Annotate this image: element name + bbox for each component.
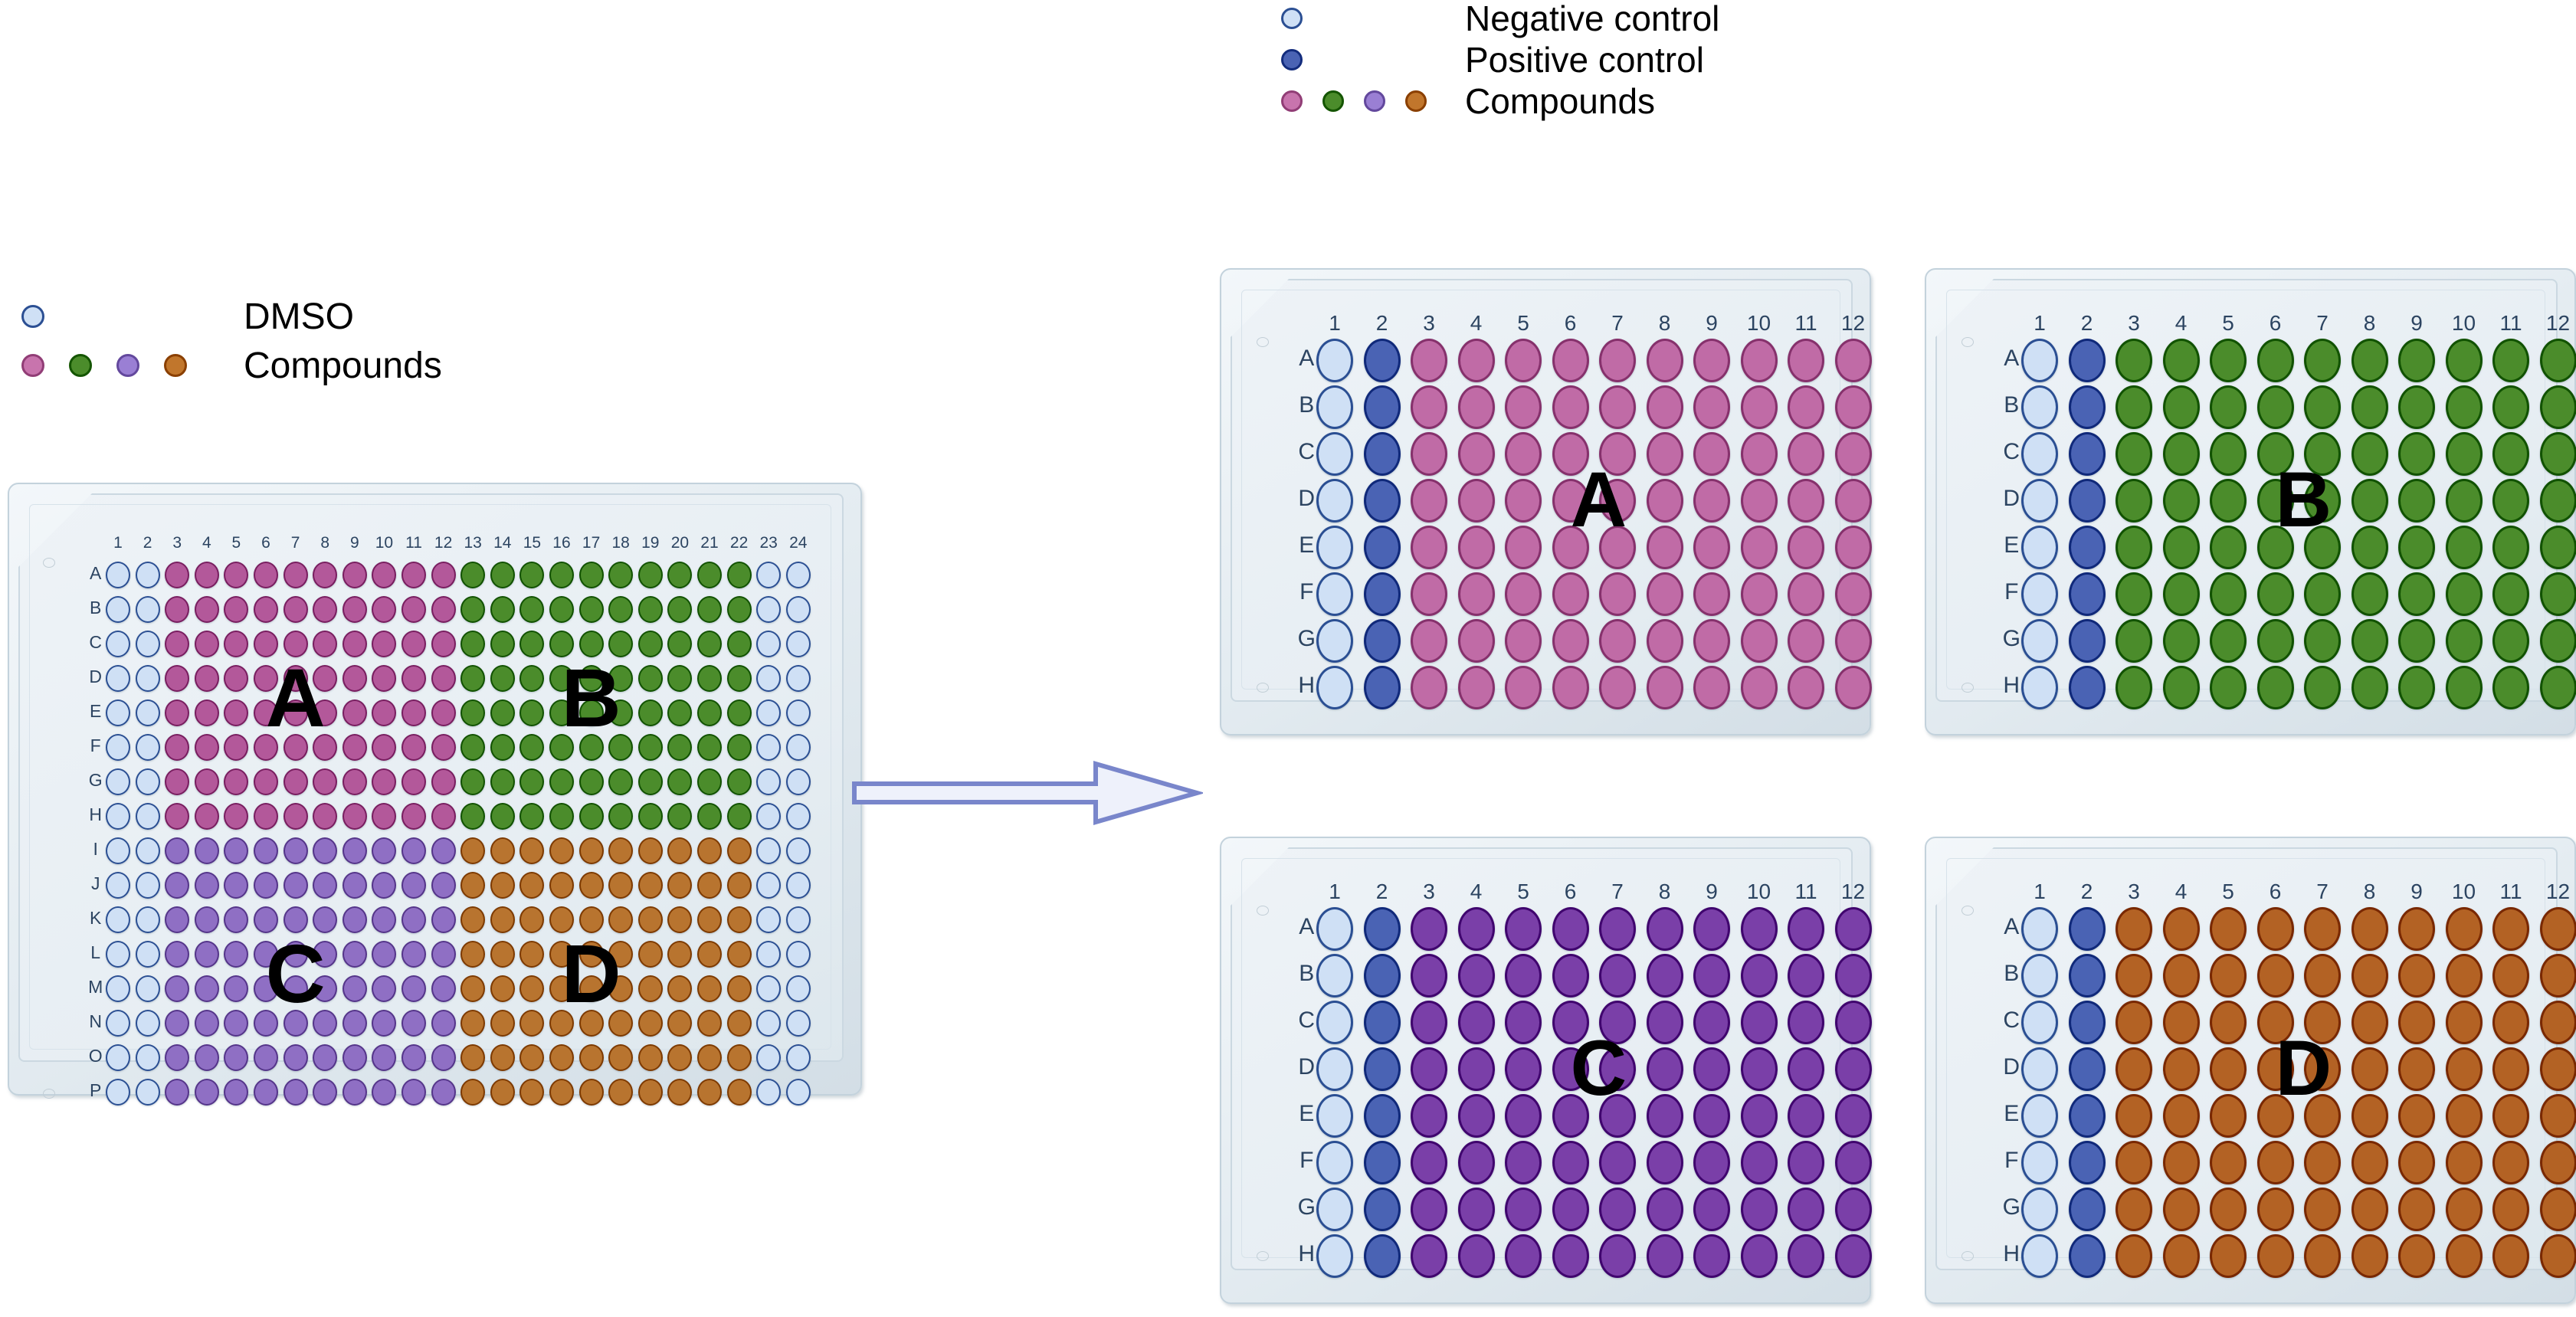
well[interactable] [2069, 619, 2106, 663]
well[interactable] [460, 665, 485, 692]
well[interactable] [2021, 1001, 2058, 1044]
well[interactable] [1835, 385, 1872, 429]
well[interactable] [136, 975, 160, 1002]
well[interactable] [165, 1079, 189, 1106]
well[interactable] [401, 872, 426, 899]
well[interactable] [490, 906, 515, 933]
well[interactable] [2398, 1001, 2435, 1044]
well[interactable] [490, 596, 515, 623]
well[interactable] [1693, 1234, 1730, 1278]
well[interactable] [1647, 385, 1683, 429]
well[interactable] [1316, 339, 1353, 382]
well[interactable] [1316, 666, 1353, 709]
well[interactable] [2257, 954, 2294, 998]
well[interactable] [1835, 1001, 1872, 1044]
well[interactable] [2069, 1141, 2106, 1184]
well[interactable] [313, 1044, 337, 1071]
well[interactable] [1693, 339, 1730, 382]
well[interactable] [1552, 907, 1589, 951]
well[interactable] [1411, 1094, 1447, 1138]
well[interactable] [1552, 1141, 1589, 1184]
well[interactable] [224, 1010, 248, 1037]
well[interactable] [254, 837, 278, 864]
well[interactable] [519, 975, 544, 1002]
well[interactable] [401, 803, 426, 830]
well[interactable] [1411, 572, 1447, 616]
well[interactable] [1458, 1141, 1495, 1184]
well[interactable] [579, 596, 604, 623]
well[interactable] [1458, 339, 1495, 382]
destination-plate-b[interactable]: 123456789101112ABCDEFGHB [1925, 268, 2576, 735]
well[interactable] [1411, 432, 1447, 476]
well[interactable] [2163, 1188, 2200, 1231]
well[interactable] [519, 872, 544, 899]
well[interactable] [254, 596, 278, 623]
well[interactable] [2352, 1047, 2388, 1091]
well[interactable] [224, 665, 248, 692]
well[interactable] [697, 1010, 722, 1037]
well[interactable] [431, 837, 456, 864]
well[interactable] [519, 1010, 544, 1037]
well[interactable] [756, 803, 781, 830]
well[interactable] [224, 596, 248, 623]
well[interactable] [2540, 954, 2576, 998]
well[interactable] [401, 906, 426, 933]
well[interactable] [195, 631, 219, 657]
well[interactable] [727, 941, 752, 968]
well[interactable] [165, 975, 189, 1002]
well[interactable] [165, 1044, 189, 1071]
well[interactable] [2492, 1188, 2529, 1231]
well[interactable] [372, 872, 396, 899]
well[interactable] [1647, 1047, 1683, 1091]
well[interactable] [2492, 385, 2529, 429]
well[interactable] [2304, 1188, 2341, 1231]
well[interactable] [165, 665, 189, 692]
well[interactable] [224, 941, 248, 968]
well[interactable] [2257, 572, 2294, 616]
well[interactable] [1693, 666, 1730, 709]
well[interactable] [342, 562, 367, 588]
well[interactable] [1788, 339, 1824, 382]
well[interactable] [2069, 432, 2106, 476]
well[interactable] [372, 803, 396, 830]
well[interactable] [165, 768, 189, 795]
well[interactable] [519, 631, 544, 657]
well[interactable] [1364, 479, 1401, 523]
well[interactable] [136, 734, 160, 761]
well[interactable] [727, 734, 752, 761]
well[interactable] [165, 596, 189, 623]
well[interactable] [1411, 1047, 1447, 1091]
well[interactable] [401, 975, 426, 1002]
well[interactable] [342, 906, 367, 933]
well[interactable] [136, 596, 160, 623]
well[interactable] [786, 699, 811, 726]
well[interactable] [460, 803, 485, 830]
well[interactable] [638, 906, 663, 933]
well[interactable] [2492, 954, 2529, 998]
well[interactable] [195, 734, 219, 761]
well[interactable] [1835, 339, 1872, 382]
well[interactable] [2398, 479, 2435, 523]
well[interactable] [490, 1010, 515, 1037]
well[interactable] [2210, 619, 2247, 663]
well[interactable] [1364, 526, 1401, 569]
well[interactable] [1835, 1141, 1872, 1184]
well[interactable] [786, 596, 811, 623]
well[interactable] [1364, 1234, 1401, 1278]
well[interactable] [2398, 1188, 2435, 1231]
well[interactable] [2116, 907, 2152, 951]
well[interactable] [1741, 1188, 1778, 1231]
well[interactable] [224, 975, 248, 1002]
well[interactable] [1788, 479, 1824, 523]
well[interactable] [1741, 666, 1778, 709]
well[interactable] [1458, 954, 1495, 998]
well[interactable] [1647, 619, 1683, 663]
well[interactable] [1505, 432, 1542, 476]
source-plate-384[interactable]: 123456789101112131415161718192021222324A… [8, 483, 862, 1096]
well[interactable] [460, 562, 485, 588]
well[interactable] [667, 596, 692, 623]
well[interactable] [549, 872, 574, 899]
well[interactable] [1411, 907, 1447, 951]
well[interactable] [667, 803, 692, 830]
well[interactable] [136, 837, 160, 864]
well[interactable] [579, 837, 604, 864]
well[interactable] [224, 837, 248, 864]
well[interactable] [1364, 666, 1401, 709]
well[interactable] [2398, 385, 2435, 429]
well[interactable] [195, 768, 219, 795]
well[interactable] [2492, 526, 2529, 569]
well[interactable] [372, 699, 396, 726]
well[interactable] [106, 803, 130, 830]
well[interactable] [2163, 526, 2200, 569]
well[interactable] [727, 631, 752, 657]
well[interactable] [1835, 1047, 1872, 1091]
well[interactable] [195, 941, 219, 968]
well[interactable] [224, 734, 248, 761]
well[interactable] [1458, 385, 1495, 429]
well[interactable] [1788, 666, 1824, 709]
well[interactable] [1316, 1188, 1353, 1231]
well[interactable] [638, 941, 663, 968]
well[interactable] [1505, 1047, 1542, 1091]
well[interactable] [2446, 907, 2483, 951]
well[interactable] [1693, 619, 1730, 663]
well[interactable] [1647, 907, 1683, 951]
well[interactable] [460, 1079, 485, 1106]
well[interactable] [342, 1044, 367, 1071]
well[interactable] [195, 699, 219, 726]
well[interactable] [106, 941, 130, 968]
well[interactable] [697, 699, 722, 726]
well[interactable] [195, 872, 219, 899]
well[interactable] [165, 906, 189, 933]
well[interactable] [2163, 954, 2200, 998]
well[interactable] [786, 631, 811, 657]
well[interactable] [1505, 1141, 1542, 1184]
well[interactable] [667, 562, 692, 588]
well[interactable] [401, 1044, 426, 1071]
well[interactable] [2446, 385, 2483, 429]
well[interactable] [283, 1079, 308, 1106]
well[interactable] [2540, 1001, 2576, 1044]
well[interactable] [727, 665, 752, 692]
well[interactable] [2540, 385, 2576, 429]
well[interactable] [1364, 619, 1401, 663]
well[interactable] [1647, 1234, 1683, 1278]
well[interactable] [106, 699, 130, 726]
well[interactable] [431, 1010, 456, 1037]
well[interactable] [2446, 1234, 2483, 1278]
well[interactable] [1741, 526, 1778, 569]
well[interactable] [519, 906, 544, 933]
well[interactable] [490, 1079, 515, 1106]
well[interactable] [1788, 619, 1824, 663]
well[interactable] [519, 1044, 544, 1071]
well[interactable] [490, 768, 515, 795]
well[interactable] [2021, 907, 2058, 951]
well[interactable] [1788, 1094, 1824, 1138]
well[interactable] [1693, 1188, 1730, 1231]
well[interactable] [460, 1044, 485, 1071]
well[interactable] [313, 768, 337, 795]
well[interactable] [2304, 954, 2341, 998]
well[interactable] [2163, 1047, 2200, 1091]
well[interactable] [431, 975, 456, 1002]
well[interactable] [1741, 339, 1778, 382]
well[interactable] [1505, 666, 1542, 709]
well[interactable] [1647, 479, 1683, 523]
well[interactable] [1835, 526, 1872, 569]
well[interactable] [401, 596, 426, 623]
well[interactable] [579, 872, 604, 899]
well[interactable] [2069, 907, 2106, 951]
well[interactable] [254, 1079, 278, 1106]
well[interactable] [727, 837, 752, 864]
well[interactable] [2163, 432, 2200, 476]
well[interactable] [224, 699, 248, 726]
destination-plate-d[interactable]: 123456789101112ABCDEFGHD [1925, 837, 2576, 1304]
well[interactable] [2069, 1188, 2106, 1231]
well[interactable] [2116, 619, 2152, 663]
well[interactable] [254, 562, 278, 588]
well[interactable] [2446, 432, 2483, 476]
well[interactable] [313, 1079, 337, 1106]
well[interactable] [2492, 572, 2529, 616]
well[interactable] [756, 768, 781, 795]
well[interactable] [519, 699, 544, 726]
well[interactable] [579, 803, 604, 830]
well[interactable] [1647, 666, 1683, 709]
well[interactable] [1647, 432, 1683, 476]
well[interactable] [224, 562, 248, 588]
well[interactable] [2021, 954, 2058, 998]
well[interactable] [727, 906, 752, 933]
well[interactable] [2446, 526, 2483, 569]
well[interactable] [2021, 572, 2058, 616]
well[interactable] [579, 562, 604, 588]
well[interactable] [136, 1044, 160, 1071]
well[interactable] [786, 837, 811, 864]
well[interactable] [2398, 572, 2435, 616]
well[interactable] [1693, 432, 1730, 476]
well[interactable] [401, 1010, 426, 1037]
well[interactable] [727, 1079, 752, 1106]
well[interactable] [1647, 572, 1683, 616]
well[interactable] [2492, 1094, 2529, 1138]
well[interactable] [2398, 339, 2435, 382]
well[interactable] [608, 803, 633, 830]
well[interactable] [786, 665, 811, 692]
well[interactable] [283, 872, 308, 899]
well[interactable] [638, 665, 663, 692]
well[interactable] [106, 837, 130, 864]
well[interactable] [401, 941, 426, 968]
well[interactable] [313, 596, 337, 623]
well[interactable] [2163, 666, 2200, 709]
well[interactable] [1599, 385, 1636, 429]
well[interactable] [786, 1079, 811, 1106]
well[interactable] [2069, 1047, 2106, 1091]
well[interactable] [1316, 907, 1353, 951]
well[interactable] [2352, 666, 2388, 709]
well[interactable] [2352, 432, 2388, 476]
well[interactable] [756, 1010, 781, 1037]
well[interactable] [2116, 1141, 2152, 1184]
well[interactable] [667, 872, 692, 899]
well[interactable] [283, 837, 308, 864]
well[interactable] [1552, 1234, 1589, 1278]
well[interactable] [1411, 339, 1447, 382]
well[interactable] [431, 596, 456, 623]
well[interactable] [1364, 385, 1401, 429]
well[interactable] [313, 803, 337, 830]
well[interactable] [372, 975, 396, 1002]
well[interactable] [1741, 1094, 1778, 1138]
well[interactable] [165, 631, 189, 657]
well[interactable] [401, 631, 426, 657]
well[interactable] [1316, 479, 1353, 523]
well[interactable] [460, 941, 485, 968]
well[interactable] [1741, 954, 1778, 998]
well[interactable] [1458, 1188, 1495, 1231]
well[interactable] [638, 1010, 663, 1037]
well[interactable] [1505, 526, 1542, 569]
well[interactable] [1458, 432, 1495, 476]
well[interactable] [372, 768, 396, 795]
well[interactable] [1599, 907, 1636, 951]
well[interactable] [1316, 1234, 1353, 1278]
well[interactable] [638, 768, 663, 795]
well[interactable] [372, 906, 396, 933]
well[interactable] [667, 975, 692, 1002]
well[interactable] [638, 1044, 663, 1071]
well[interactable] [165, 803, 189, 830]
well[interactable] [431, 562, 456, 588]
well[interactable] [2210, 479, 2247, 523]
well[interactable] [460, 837, 485, 864]
well[interactable] [195, 665, 219, 692]
well[interactable] [342, 665, 367, 692]
well[interactable] [756, 631, 781, 657]
well[interactable] [2069, 1094, 2106, 1138]
well[interactable] [638, 596, 663, 623]
well[interactable] [2116, 1094, 2152, 1138]
well[interactable] [136, 803, 160, 830]
well[interactable] [2492, 479, 2529, 523]
well[interactable] [756, 941, 781, 968]
well[interactable] [1788, 385, 1824, 429]
well[interactable] [667, 1044, 692, 1071]
well[interactable] [1788, 572, 1824, 616]
well[interactable] [1411, 1234, 1447, 1278]
well[interactable] [519, 1079, 544, 1106]
well[interactable] [1316, 1001, 1353, 1044]
well[interactable] [1741, 907, 1778, 951]
well[interactable] [1458, 479, 1495, 523]
well[interactable] [786, 906, 811, 933]
well[interactable] [1411, 1001, 1447, 1044]
well[interactable] [2116, 385, 2152, 429]
well[interactable] [342, 803, 367, 830]
well[interactable] [2163, 619, 2200, 663]
well[interactable] [401, 665, 426, 692]
well[interactable] [431, 906, 456, 933]
well[interactable] [638, 699, 663, 726]
well[interactable] [1741, 1141, 1778, 1184]
well[interactable] [2210, 1001, 2247, 1044]
well[interactable] [490, 975, 515, 1002]
well[interactable] [2163, 1141, 2200, 1184]
well[interactable] [106, 768, 130, 795]
well[interactable] [2116, 1047, 2152, 1091]
well[interactable] [1741, 619, 1778, 663]
well[interactable] [342, 837, 367, 864]
well[interactable] [2021, 666, 2058, 709]
well[interactable] [2540, 1094, 2576, 1138]
well[interactable] [431, 872, 456, 899]
well[interactable] [342, 596, 367, 623]
well[interactable] [697, 803, 722, 830]
well[interactable] [2163, 339, 2200, 382]
well[interactable] [1788, 1141, 1824, 1184]
well[interactable] [2398, 954, 2435, 998]
well[interactable] [1741, 479, 1778, 523]
well[interactable] [2540, 339, 2576, 382]
well[interactable] [372, 596, 396, 623]
well[interactable] [1599, 954, 1636, 998]
well[interactable] [549, 768, 574, 795]
well[interactable] [1364, 1047, 1401, 1091]
well[interactable] [549, 596, 574, 623]
well[interactable] [401, 837, 426, 864]
well[interactable] [1411, 954, 1447, 998]
well[interactable] [1458, 666, 1495, 709]
well[interactable] [667, 665, 692, 692]
well[interactable] [756, 872, 781, 899]
well[interactable] [519, 803, 544, 830]
well[interactable] [2304, 1141, 2341, 1184]
well[interactable] [224, 803, 248, 830]
well[interactable] [2446, 1188, 2483, 1231]
well[interactable] [195, 1044, 219, 1071]
well[interactable] [2069, 385, 2106, 429]
well[interactable] [2069, 1234, 2106, 1278]
